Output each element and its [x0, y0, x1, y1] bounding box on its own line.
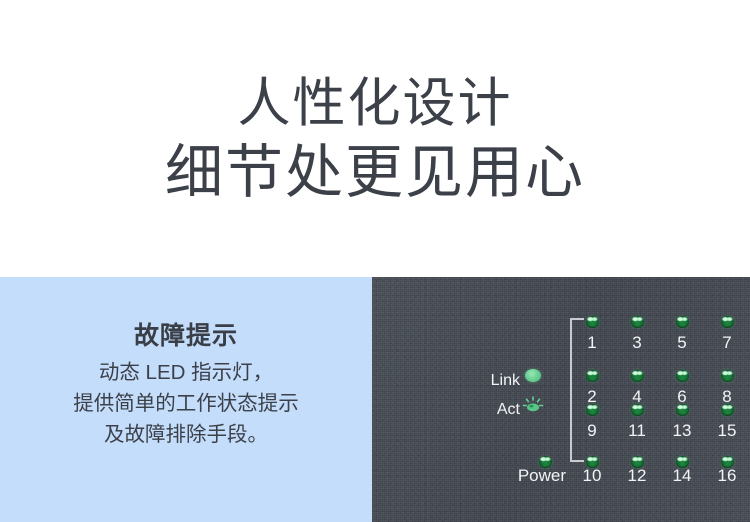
port-number-10: 10	[579, 467, 605, 484]
legend-act-label: Act	[468, 402, 520, 418]
port-led-2	[586, 370, 599, 382]
port-number-7: 7	[714, 334, 740, 351]
port-led-3	[631, 316, 644, 328]
port-number-12: 12	[624, 467, 650, 484]
port-number-2: 2	[579, 388, 605, 405]
port-number-1: 1	[579, 334, 605, 351]
port-number-8: 8	[714, 388, 740, 405]
port-led-1	[586, 316, 599, 328]
port-number-13: 13	[669, 422, 695, 439]
info-panel-title: 故障提示	[0, 321, 372, 351]
info-panel: 故障提示 动态 LED 指示灯， 提供简单的工作状态提示 及故障排除手段。	[0, 277, 372, 522]
led-indicator-grid: Link Act	[372, 277, 750, 522]
port-led-6	[676, 370, 689, 382]
port-number-11: 11	[624, 422, 650, 439]
feature-section: 故障提示 动态 LED 指示灯， 提供简单的工作状态提示 及故障排除手段。 Li…	[0, 277, 750, 522]
hero-headline-line-1: 人性化设计	[0, 74, 750, 134]
device-panel-photo: Link Act	[372, 277, 750, 522]
port-led-8	[721, 370, 734, 382]
legend-link-label: Link	[468, 373, 520, 389]
hero-headline-line-2: 细节处更见用心	[0, 140, 750, 206]
port-led-15	[721, 404, 734, 416]
info-body-line-3: 及故障排除手段。	[0, 419, 372, 450]
port-number-6: 6	[669, 388, 695, 405]
port-led-7	[721, 316, 734, 328]
port-number-3: 3	[624, 334, 650, 351]
port-led-4	[631, 370, 644, 382]
port-number-5: 5	[669, 334, 695, 351]
port-number-9: 9	[579, 422, 605, 439]
port-led-5	[676, 316, 689, 328]
port-led-13	[676, 404, 689, 416]
port-led-9	[586, 404, 599, 416]
port-number-16: 16	[714, 467, 740, 484]
hero-section: 人性化设计 细节处更见用心	[0, 0, 750, 277]
power-label: Power	[494, 467, 566, 484]
solid-green-circle-icon	[525, 369, 541, 382]
info-body-line-2: 提供简单的工作状态提示	[0, 388, 372, 419]
info-body-line-1: 动态 LED 指示灯，	[0, 357, 372, 388]
port-number-4: 4	[624, 388, 650, 405]
promo-page: 人性化设计 细节处更见用心 故障提示 动态 LED 指示灯， 提供简单的工作状态…	[0, 0, 750, 522]
port-led-11	[631, 404, 644, 416]
info-panel-body: 动态 LED 指示灯， 提供简单的工作状态提示 及故障排除手段。	[0, 357, 372, 450]
blinking-green-led-icon	[522, 396, 544, 414]
port-number-14: 14	[669, 467, 695, 484]
port-number-15: 15	[714, 422, 740, 439]
